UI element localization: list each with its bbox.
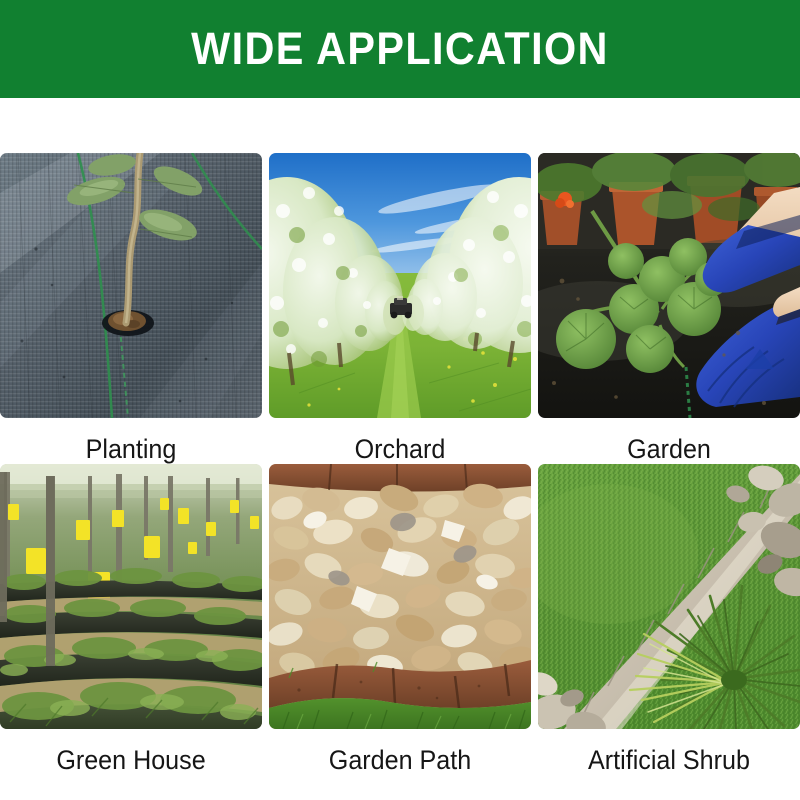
grid-item-planting[interactable]: Planting — [0, 153, 262, 463]
garden-photo — [538, 153, 800, 418]
tile-label-green-house: Green House — [9, 747, 253, 774]
grid-item-garden-path[interactable]: Garden Path — [269, 464, 531, 774]
tile-label-artificial-shrub: Artificial Shrub — [547, 747, 791, 774]
tile-label-garden: Garden — [547, 436, 791, 463]
grid-item-green-house[interactable]: Green House — [0, 464, 262, 774]
wide-application-infographic: WIDE APPLICATION — [0, 0, 800, 800]
orchard-photo — [269, 153, 531, 418]
grid-item-artificial-shrub[interactable]: Artificial Shrub — [538, 464, 800, 774]
garden-path-photo — [269, 464, 531, 729]
tile-label-garden-path: Garden Path — [278, 747, 522, 774]
page-title: WIDE APPLICATION — [191, 26, 609, 71]
planting-photo — [0, 153, 262, 418]
tile-label-planting: Planting — [9, 436, 253, 463]
application-grid: Planting — [0, 153, 800, 793]
header-banner: WIDE APPLICATION — [0, 0, 800, 98]
greenhouse-photo — [0, 464, 262, 729]
artificial-shrub-photo — [538, 464, 800, 729]
grid-item-orchard[interactable]: Orchard — [269, 153, 531, 463]
grid-item-garden[interactable]: Garden — [538, 153, 800, 463]
tile-label-orchard: Orchard — [278, 436, 522, 463]
